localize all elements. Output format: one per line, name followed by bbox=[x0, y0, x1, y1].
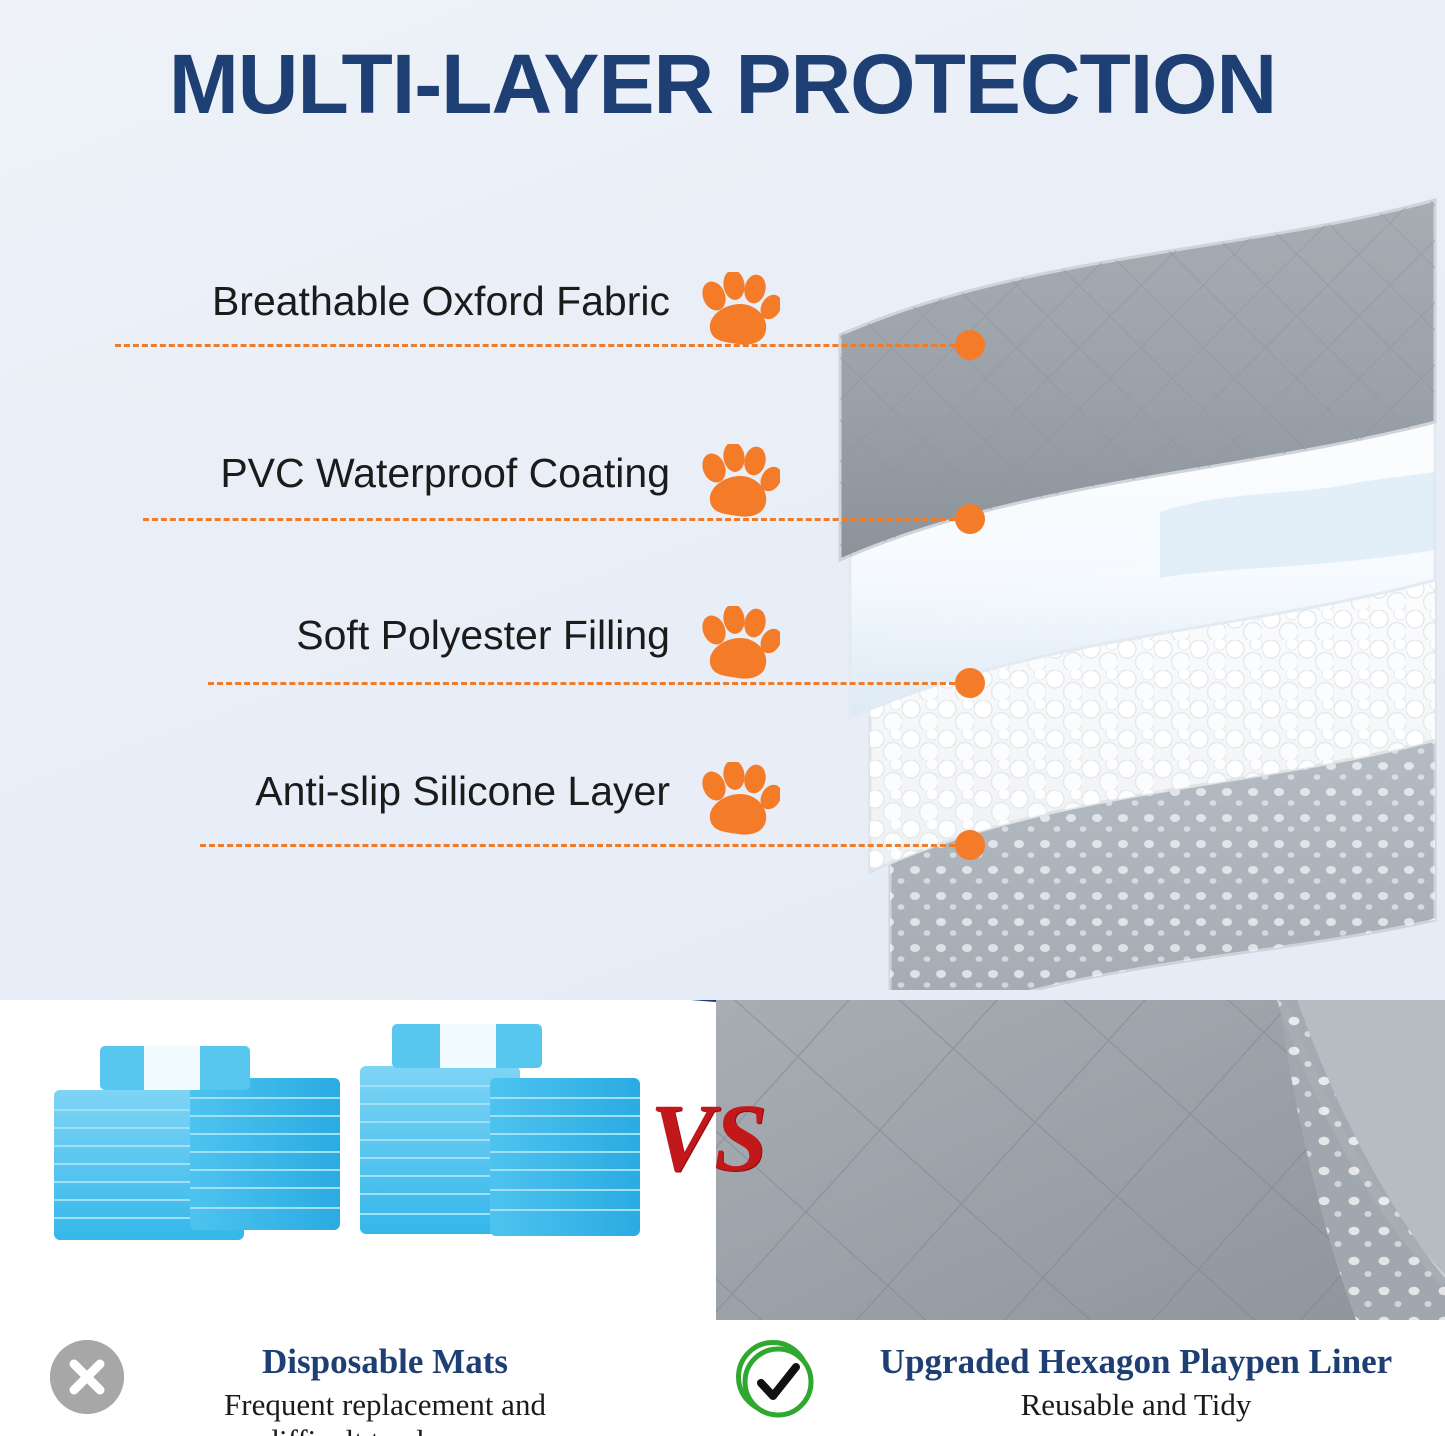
paw-print-icon bbox=[696, 272, 780, 352]
connector-line-3 bbox=[208, 682, 955, 685]
label-anti-slip-silicone-layer: Anti-slip Silicone Layer bbox=[0, 768, 780, 838]
layer-label-text: Anti-slip Silicone Layer bbox=[255, 768, 670, 815]
paw-print-icon bbox=[696, 606, 780, 686]
pad-stack-left bbox=[54, 1046, 340, 1240]
pad-stack-right bbox=[360, 1024, 640, 1236]
infographic-root: MULTI-LAYER PROTECTION bbox=[0, 0, 1445, 1436]
label-pvc-waterproof-coating: PVC Waterproof Coating bbox=[0, 450, 780, 520]
vs-label: VS bbox=[650, 1082, 767, 1193]
comparison-left-subtitle-2: difficult to clean up bbox=[150, 1424, 620, 1436]
x-mark-icon bbox=[50, 1340, 124, 1414]
connector-dot-2 bbox=[955, 504, 985, 534]
exploded-layers-illustration bbox=[830, 160, 1445, 990]
layer-label-text: Soft Polyester Filling bbox=[296, 612, 670, 659]
connector-line-1 bbox=[115, 344, 955, 347]
page-title: MULTI-LAYER PROTECTION bbox=[0, 36, 1445, 133]
layer-label-text: PVC Waterproof Coating bbox=[220, 450, 670, 497]
comparison-left-subtitle-1: Frequent replacement and bbox=[150, 1388, 620, 1423]
connector-dot-3 bbox=[955, 668, 985, 698]
comparison-left-title: Disposable Mats bbox=[150, 1342, 620, 1382]
comparison-right-subtitle-1: Reusable and Tidy bbox=[836, 1388, 1436, 1423]
hexagon-liner-photo bbox=[716, 1000, 1445, 1320]
connector-line-4 bbox=[200, 844, 955, 847]
disposable-pads-photo bbox=[40, 1018, 660, 1278]
comparison-section: VS Disposable Mats Frequent replacement … bbox=[0, 1000, 1445, 1436]
comparison-right-title: Upgraded Hexagon Playpen Liner bbox=[836, 1342, 1436, 1382]
connector-dot-4 bbox=[955, 830, 985, 860]
paw-print-icon bbox=[696, 762, 780, 842]
label-soft-polyester-filling: Soft Polyester Filling bbox=[0, 612, 780, 682]
multi-layer-section: MULTI-LAYER PROTECTION bbox=[0, 0, 1445, 1030]
connector-line-2 bbox=[143, 518, 955, 521]
layer-label-text: Breathable Oxford Fabric bbox=[212, 278, 670, 325]
connector-dot-1 bbox=[955, 330, 985, 360]
paw-print-icon bbox=[696, 444, 780, 524]
check-mark-icon bbox=[736, 1340, 810, 1414]
label-breathable-oxford-fabric: Breathable Oxford Fabric bbox=[0, 278, 780, 348]
